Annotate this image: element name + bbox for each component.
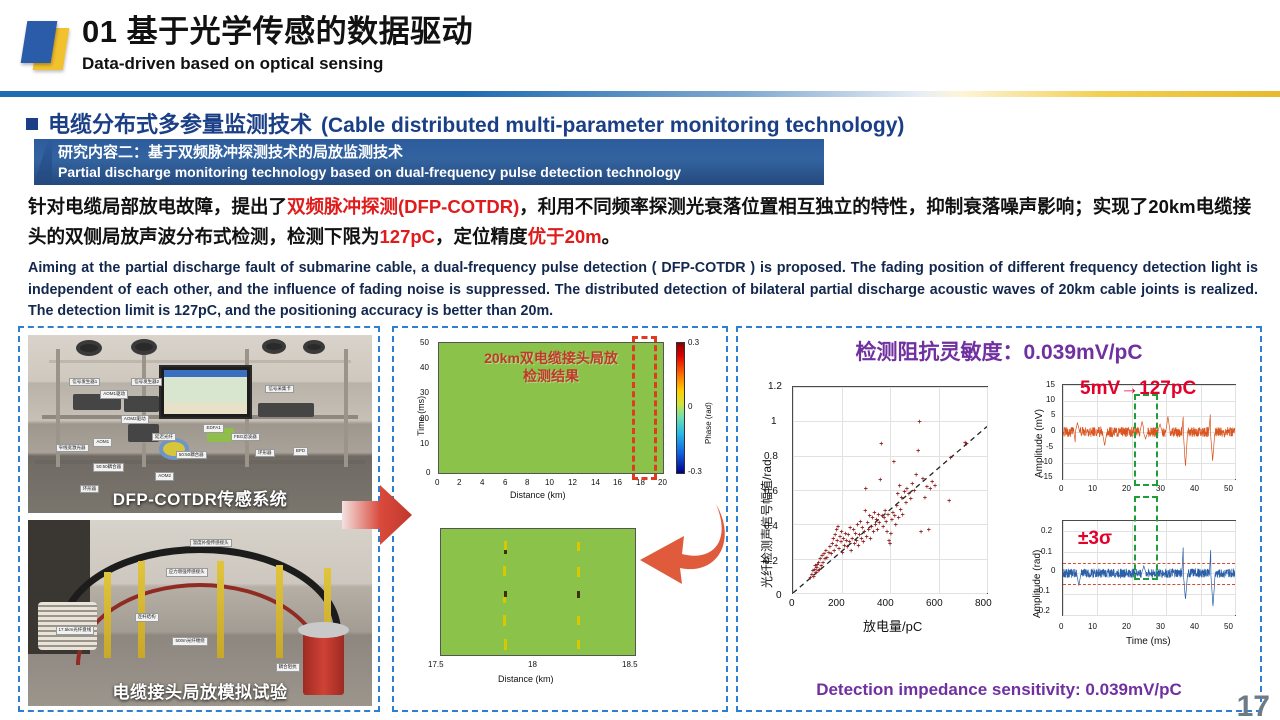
scatter-point: + — [920, 477, 925, 482]
scatter-point: + — [891, 460, 896, 465]
computer-monitor — [159, 365, 252, 418]
photo-label-sig-gen-1: 信号发生器1 — [69, 378, 100, 387]
scatter-plot-area: ++++++++++++++++++++++++++++++++++++++++… — [792, 386, 988, 594]
scatter-point: + — [926, 528, 931, 533]
roi-dashed-box-green-bottom — [1134, 496, 1158, 580]
scatter-point: + — [849, 549, 854, 554]
scatter-point: + — [914, 473, 919, 478]
page-number: 17 — [1237, 690, 1270, 720]
scatter-point: + — [888, 532, 893, 537]
scatter-point: + — [900, 513, 905, 518]
photo-label-bpd: BPD — [293, 447, 308, 456]
waveform-rad-ylabel: Amplitude (rad) — [1032, 550, 1043, 618]
colorbar-mid-tick: 0 — [688, 402, 692, 411]
summary-paragraph-cn: 针对电缆局部放电故障，提出了双频脉冲探测(DFP-COTDR)，利用不同频率探测… — [28, 192, 1260, 252]
cn-text-d: 。 — [602, 226, 621, 247]
scatter-point: + — [893, 523, 898, 528]
scatter-point: + — [912, 489, 917, 494]
scatter-gridline — [987, 387, 988, 593]
scatter-point: + — [919, 530, 924, 535]
colorbar-max-tick: 0.3 — [688, 338, 699, 347]
photo-label-laser: 窄线宽激光器 — [56, 444, 89, 453]
curved-arrow-icon — [620, 498, 730, 588]
scatter-point: + — [948, 456, 953, 461]
section-heading-cn: 电缆分布式多参量监测技术 — [48, 107, 312, 139]
annotation-3sigma: ±3σ — [1078, 528, 1112, 550]
fiber-spool-3 — [262, 339, 286, 354]
photo-label-sig-gen-2: 信号发生器2 — [131, 378, 162, 387]
scatter-point: + — [910, 482, 915, 487]
photos-panel: 信号发生器1 信号发生器2 信号采集卡 AOM1驱动 AOM2驱动 AOM1 A… — [18, 326, 380, 712]
photo-label-coupler-1: 50:50耦合器 — [176, 451, 207, 460]
insulator-stand-1 — [104, 572, 111, 658]
sigma-threshold-line — [1063, 584, 1235, 585]
roi-dashed-box-green-top — [1134, 394, 1158, 486]
scatter-point: + — [933, 484, 938, 489]
frame-post-4 — [344, 349, 348, 466]
scatter-ylabel: 光纤检测声信号幅值/rad — [758, 459, 775, 588]
right-arrow-icon — [340, 478, 414, 552]
section-heading: 电缆分布式多参量监测技术 (Cable distributed multi-pa… — [26, 107, 904, 139]
scatter-point: + — [888, 542, 893, 547]
colorbar-min-tick: -0.3 — [688, 467, 702, 476]
heatmap-plot-area: 20km双电缆接头局放 检测结果 — [438, 342, 664, 474]
heatmap-ylabel: Time (ms) — [416, 396, 426, 436]
slide-header: 01 基于光学传感的数据驱动 Data-driven based on opti… — [0, 0, 1280, 96]
cn-highlight-dfp: 双频脉冲探测(DFP-COTDR) — [287, 196, 519, 217]
heatmap-zoom-plot-area — [440, 528, 636, 656]
photo-label-stress-joint: 应力增强传感接头 — [166, 568, 208, 577]
heatmap-title-line1: 20km双电缆接头局放 — [484, 350, 618, 366]
photo-label-coupling-impedance: 耦合阻抗 — [276, 663, 300, 672]
scatter-xlabel: 放电量/pC — [863, 616, 922, 635]
scatter-point: + — [947, 499, 952, 504]
scatter-point: + — [897, 484, 902, 489]
heatmap-overlay-title: 20km双电缆接头局放 检测结果 — [439, 349, 663, 385]
analysis-title-en: Detection impedance sensitivity: 0.039mV… — [738, 680, 1260, 700]
scatter-chart: ++++++++++++++++++++++++++++++++++++++++… — [746, 376, 1014, 646]
photo-label-aom2: AOM2 — [155, 472, 174, 481]
page-title-en: Data-driven based on optical sensing — [82, 54, 473, 74]
photo-label-17km-fiber: 17.5km光纤盘线 — [56, 626, 95, 635]
scatter-point: + — [878, 478, 883, 483]
header-text-group: 01 基于光学传感的数据驱动 Data-driven based on opti… — [82, 14, 473, 74]
waveform-chart-mv: 5mV→127pC 15 10 5 0 -5 -10 -15 0 10 20 3… — [1022, 372, 1254, 512]
header-divider-rule — [0, 91, 1280, 97]
photo-bottom-caption: 电缆接头局放模拟试验 — [28, 678, 372, 703]
shelf-lower — [35, 460, 365, 464]
waveform-rad-xlabel: Time (ms) — [1126, 636, 1171, 647]
heatmap-20km-full: 20km双电缆接头局放 检测结果 50 40 30 20 10 0 0 2 4 … — [404, 336, 720, 510]
photo-label-coupler-2: 50:50耦合器 — [93, 463, 124, 472]
insulator-stand-2 — [138, 561, 145, 658]
scatter-point: + — [868, 537, 873, 542]
shelf-upper — [49, 360, 352, 363]
photo-top-caption: DFP-COTDR传感系统 — [28, 485, 372, 510]
insulator-stand-3 — [217, 561, 224, 658]
photo-label-delay-fiber: 延迟光纤 — [152, 433, 176, 442]
photo-label-linkage: 连杆结构 — [135, 613, 159, 622]
photo-label-daq: 信号采集卡 — [265, 385, 294, 394]
heatmap-zoom-xlabel: Distance (km) — [498, 674, 554, 684]
blue-yellow-parallelogram-logo — [20, 18, 74, 76]
photo-label-aom1-drv: AOM1驱动 — [100, 390, 128, 399]
scatter-point: + — [916, 449, 921, 454]
waveform-gridline — [1063, 615, 1235, 616]
photo-label-temp-joint: 温度补偿传感接头 — [190, 539, 232, 548]
square-bullet-icon — [26, 118, 38, 130]
scatter-point: + — [964, 442, 969, 447]
scatter-point: + — [858, 520, 863, 525]
analysis-title-cn: 检测阻抗灵敏度：0.039mV/pC — [738, 336, 1260, 366]
summary-paragraph-en: Aiming at the partial discharge fault of… — [28, 258, 1258, 323]
cn-text-c: ，定位精度 — [435, 226, 528, 247]
colorbar-label: Phase (rad) — [704, 402, 713, 444]
scatter-point: + — [884, 520, 889, 525]
analysis-panel: 检测阻抗灵敏度：0.039mV/pC +++++++++++++++++++++… — [736, 326, 1262, 712]
scatter-gridline — [793, 593, 987, 594]
photo-label-500m-fiber: 500m光纤缠绕 — [172, 637, 207, 646]
waveform-gridline — [1235, 385, 1236, 479]
scatter-point: + — [908, 497, 913, 502]
waveform-mv-ylabel: Amplitude (mV) — [1034, 409, 1045, 478]
instrument-3 — [258, 403, 313, 417]
scatter-point: + — [917, 420, 922, 425]
research-topic-banner: 研究内容二：基于双频脉冲探测技术的局放监测技术 Partial discharg… — [34, 139, 824, 185]
heatmap-xlabel: Distance (km) — [510, 490, 566, 500]
roi-dashed-box-red — [632, 336, 657, 480]
photo-label-circulator: 环形器 — [255, 449, 275, 458]
fiber-spool-2 — [131, 339, 157, 355]
annotation-5mv-127pc: 5mV→127pC — [1080, 378, 1196, 400]
cn-highlight-127pc: 127pC — [380, 226, 436, 247]
insulator-stand-4 — [276, 565, 283, 658]
banner-title-en: Partial discharge monitoring technology … — [58, 163, 824, 181]
waveform-chart-rad: ±3σ 0.2 0.1 0 -0.1 -0.2 0 10 20 30 40 50… — [1022, 514, 1254, 664]
scatter-point: + — [863, 487, 868, 492]
heatmap-title-line2: 检测结果 — [523, 368, 579, 384]
cn-text-a: 针对电缆局部放电故障，提出了 — [28, 196, 287, 217]
photo-label-aom2-drv: AOM2驱动 — [121, 415, 149, 424]
photo-label-edfa1: EDFA1 — [203, 424, 223, 433]
banner-title-cn: 研究内容二：基于双频脉冲探测技术的局放监测技术 — [58, 143, 824, 163]
scatter-point: + — [922, 496, 927, 501]
scatter-point: + — [840, 551, 845, 556]
page-title-cn: 01 基于光学传感的数据驱动 — [82, 14, 473, 50]
photo-label-fbg: FBG滤波器 — [231, 433, 260, 442]
photo-cable-joint-test: 温度补偿传感接头 应力增强传感接头 连杆结构 17.5km光纤盘线 500m光纤… — [28, 520, 372, 706]
section-heading-en: (Cable distributed multi-parameter monit… — [321, 114, 904, 138]
scatter-point: + — [875, 528, 880, 533]
waveform-gridline — [1235, 521, 1236, 615]
photo-label-aom1: AOM1 — [93, 438, 112, 447]
instrument-2 — [124, 396, 158, 412]
photo-dfp-cotdr-system: 信号发生器1 信号发生器2 信号采集卡 AOM1驱动 AOM2驱动 AOM1 A… — [28, 335, 372, 513]
heatmap-colorbar — [676, 342, 685, 474]
scatter-point: + — [879, 442, 884, 447]
cn-highlight-20m: 优于20m — [528, 226, 602, 247]
